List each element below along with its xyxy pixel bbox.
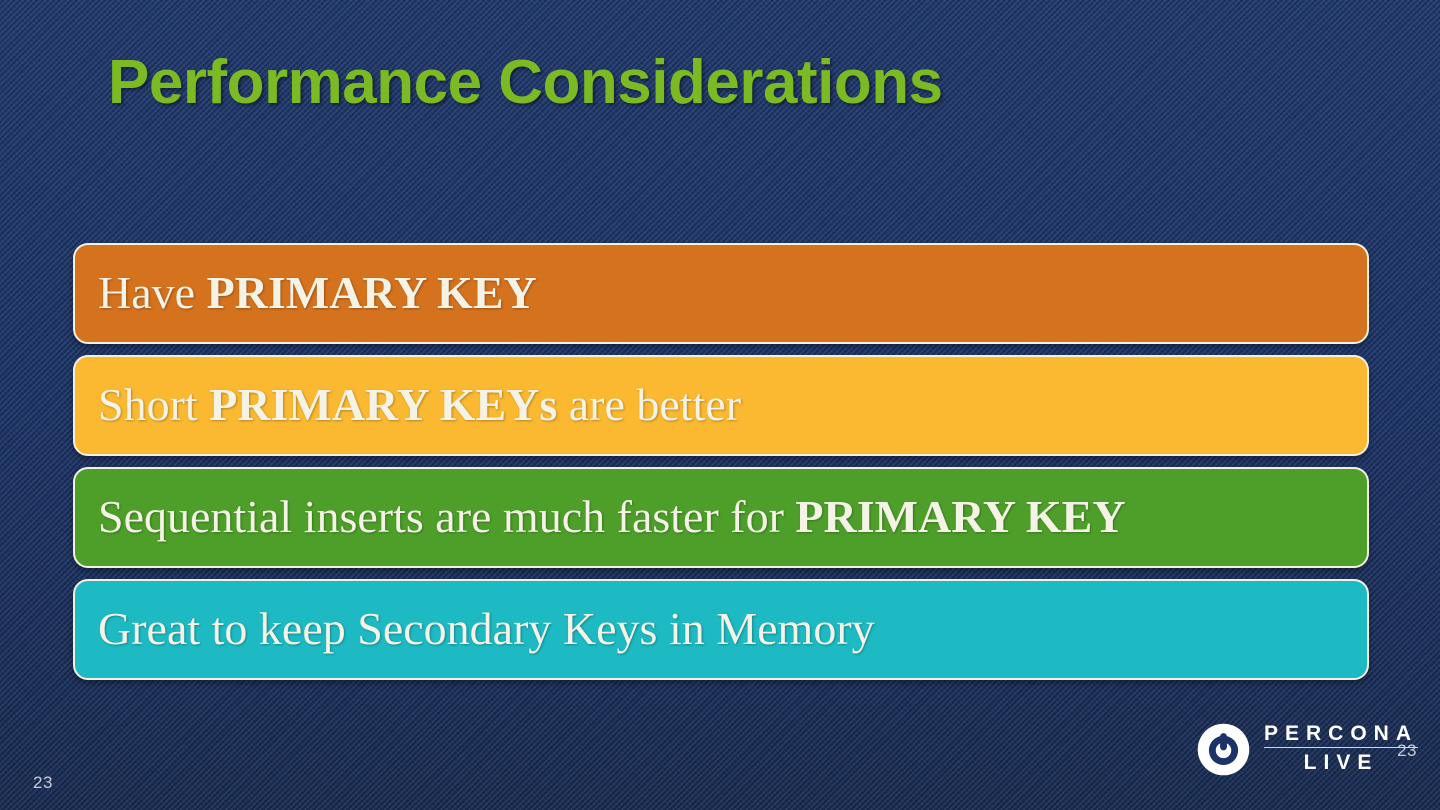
percona-live-wordmark: PERCONA LIVE — [1264, 723, 1418, 775]
bar-secondary-keys-memory: Great to keep Secondary Keys in Memory — [73, 579, 1369, 680]
logo-line-percona: PERCONA — [1264, 723, 1418, 748]
bar-label: Great to keep Secondary Keys in Memory — [98, 605, 875, 653]
slide: Performance Considerations Have PRIMARY … — [0, 0, 1440, 810]
bar-label: Sequential inserts are much faster for P… — [98, 493, 1126, 541]
page-number-left: 23 — [33, 773, 53, 793]
percona-live-logo: PERCONA LIVE — [1196, 722, 1418, 777]
bar-have-primary-key: Have PRIMARY KEY — [73, 243, 1369, 344]
percona-power-icon — [1196, 722, 1251, 777]
bar-list: Have PRIMARY KEY Short PRIMARY KEYs are … — [73, 243, 1369, 691]
bar-label: Have PRIMARY KEY — [98, 269, 537, 317]
bar-short-primary-keys: Short PRIMARY KEYs are better — [73, 355, 1369, 456]
bar-label: Short PRIMARY KEYs are better — [98, 381, 741, 429]
bar-sequential-inserts: Sequential inserts are much faster for P… — [73, 467, 1369, 568]
logo-line-live: LIVE — [1264, 748, 1418, 775]
page-title: Performance Considerations — [108, 47, 943, 118]
